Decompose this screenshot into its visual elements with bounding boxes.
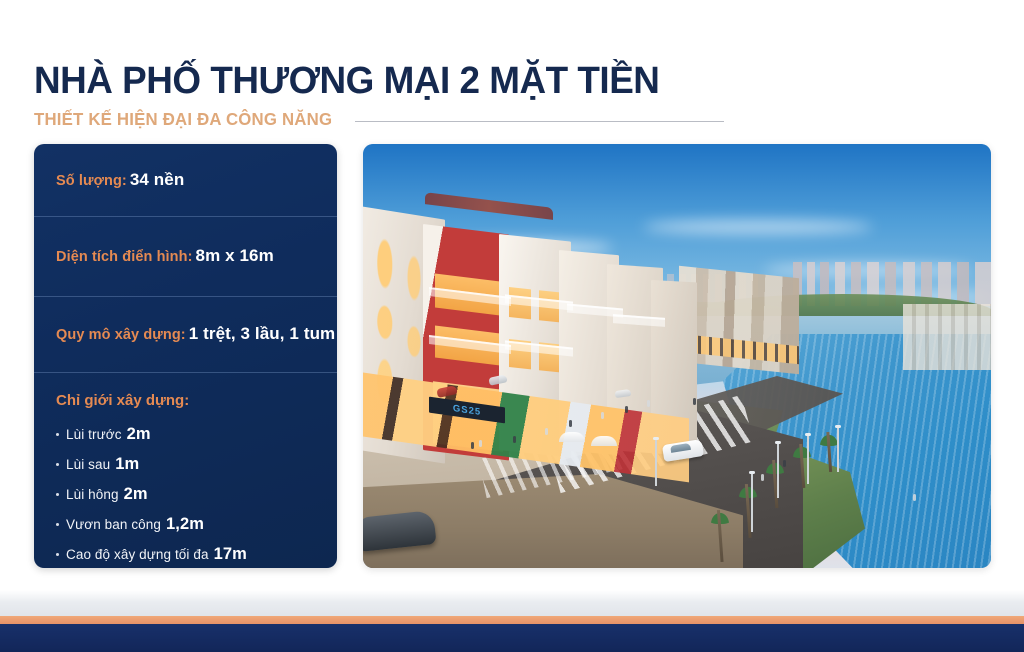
subtitle-divider: [355, 121, 724, 122]
list-item: Lùi hông 2m: [56, 485, 247, 504]
spec-row-scale: Quy mô xây dựng:1 trệt, 3 lầu, 1 tum: [34, 296, 337, 372]
pedestrian: [761, 474, 764, 481]
project-render-image: GS25: [363, 144, 991, 568]
setback-value: 1m: [115, 455, 139, 474]
palm-tree: [791, 444, 813, 488]
list-item: Lùi trước 2m: [56, 425, 247, 444]
pedestrian: [625, 406, 628, 413]
list-item: Vươn ban công 1,2m: [56, 515, 247, 534]
palm-tree: [763, 460, 787, 508]
page-subtitle: THIẾT KẾ HIỆN ĐẠI ĐA CÔNG NĂNG: [34, 109, 332, 130]
palm-tree: [735, 484, 761, 538]
page-title: NHÀ PHỐ THƯƠNG MẠI 2 MẶT TIỀN: [34, 62, 965, 102]
subtitle-row: THIẾT KẾ HIỆN ĐẠI ĐA CÔNG NĂNG: [34, 109, 724, 130]
footer-orange-rule: [0, 616, 1024, 624]
bullet-dot-icon: [56, 463, 59, 466]
bullet-dot-icon: [56, 433, 59, 436]
spec-label-area: Diện tích điển hình:: [56, 249, 193, 265]
spec-value-quantity: 34 nền: [130, 170, 184, 189]
setback-text: Lùi hông: [66, 487, 119, 502]
footer-navy-bar: [0, 624, 1024, 652]
pedestrian: [479, 440, 482, 447]
bullet-dot-icon: [56, 553, 59, 556]
spec-row-area: Diện tích điển hình:8m x 16m: [34, 216, 337, 296]
street-lamp: [655, 440, 657, 486]
spec-label-quantity: Số lượng:: [56, 173, 127, 189]
setback-text: Lùi trước: [66, 427, 122, 442]
setbacks-list: Lùi trước 2m Lùi sau 1m Lùi hông 2m Vươn…: [56, 425, 247, 568]
spec-label-scale: Quy mô xây dựng:: [56, 327, 186, 343]
pedestrian: [545, 428, 548, 435]
page-header: NHÀ PHỐ THƯƠNG MẠI 2 MẶT TIỀN THIẾT KẾ H…: [34, 62, 994, 130]
pedestrian: [601, 412, 604, 419]
spec-value-scale: 1 trệt, 3 lầu, 1 tum: [189, 324, 336, 343]
setback-text: Vươn ban công: [66, 517, 161, 532]
street-lamp: [807, 436, 809, 484]
cafe-awning: [591, 436, 617, 446]
spec-value-area: 8m x 16m: [196, 246, 274, 265]
setback-value: 1,2m: [166, 515, 204, 534]
bullet-dot-icon: [56, 493, 59, 496]
pedestrian: [783, 460, 786, 467]
spec-row-setbacks: Chỉ giới xây dựng: Lùi trước 2m Lùi sau …: [34, 372, 337, 568]
setback-value: 17m: [214, 545, 247, 564]
far-residential-block: [903, 304, 991, 370]
pedestrian: [513, 436, 516, 443]
spec-row-quantity: Số lượng:34 nền: [34, 144, 337, 216]
setback-text: Cao độ xây dựng tối đa: [66, 547, 209, 562]
pedestrian: [647, 400, 650, 407]
pedestrian: [471, 442, 474, 449]
pedestrian: [913, 494, 916, 501]
street-lamp: [837, 428, 839, 472]
pedestrian: [693, 398, 696, 405]
specs-panel: Số lượng:34 nền Diện tích điển hình:8m x…: [34, 144, 337, 568]
setback-value: 2m: [127, 425, 151, 444]
street-lamp: [777, 444, 779, 498]
pedestrian: [569, 420, 572, 427]
setback-value: 2m: [124, 485, 148, 504]
bullet-dot-icon: [56, 523, 59, 526]
setbacks-title: Chỉ giới xây dựng:: [56, 392, 189, 409]
cafe-awning: [559, 432, 585, 442]
list-item: Cao độ xây dựng tối đa 17m: [56, 545, 247, 564]
palm-tree: [819, 432, 839, 472]
street-lamp: [751, 474, 753, 532]
palm-tree: [707, 510, 733, 562]
list-item: Lùi sau 1m: [56, 455, 247, 474]
setback-text: Lùi sau: [66, 457, 110, 472]
